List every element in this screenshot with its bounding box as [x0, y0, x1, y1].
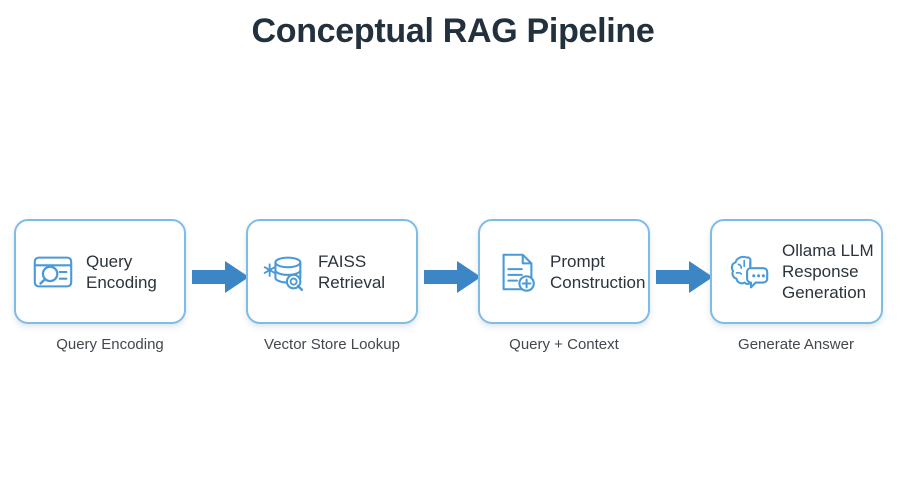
pipeline-stage-label: FAISS Retrieval: [318, 251, 385, 293]
pipeline-caption-query-context: Query + Context: [468, 334, 660, 356]
document-plus-icon: [494, 249, 540, 295]
arrow-right-icon: [424, 259, 482, 295]
pipeline-captions: Query Encoding Vector Store Lookup Query…: [0, 334, 906, 358]
pipeline-stage-faiss-retrieval[interactable]: FAISS Retrieval: [246, 219, 418, 324]
pipeline-caption-vector-store: Vector Store Lookup: [236, 334, 428, 356]
pipeline-stage-label: Query Encoding: [86, 251, 157, 293]
arrow-right-icon: [656, 259, 714, 295]
brain-chat-bubble-icon: [726, 249, 772, 295]
pipeline-stage-ollama-llm[interactable]: Ollama LLM Response Generation: [710, 219, 883, 324]
pipeline-diagram: Query Encoding FAISS Retrieval: [0, 219, 906, 324]
pipeline-stage-label: Ollama LLM Response Generation: [782, 240, 874, 303]
arrow-right-icon: [192, 259, 250, 295]
pipeline-caption-generate-answer: Generate Answer: [700, 334, 892, 356]
browser-window-search-icon: [30, 249, 76, 295]
pipeline-stage-query-encoding[interactable]: Query Encoding: [14, 219, 186, 324]
pipeline-caption-query-encoding: Query Encoding: [14, 334, 206, 356]
pipeline-stage-label: Prompt Construction: [550, 251, 645, 293]
database-snowflake-search-icon: [262, 249, 308, 295]
pipeline-stage-prompt-construction[interactable]: Prompt Construction: [478, 219, 650, 324]
page-title: Conceptual RAG Pipeline: [0, 8, 906, 54]
